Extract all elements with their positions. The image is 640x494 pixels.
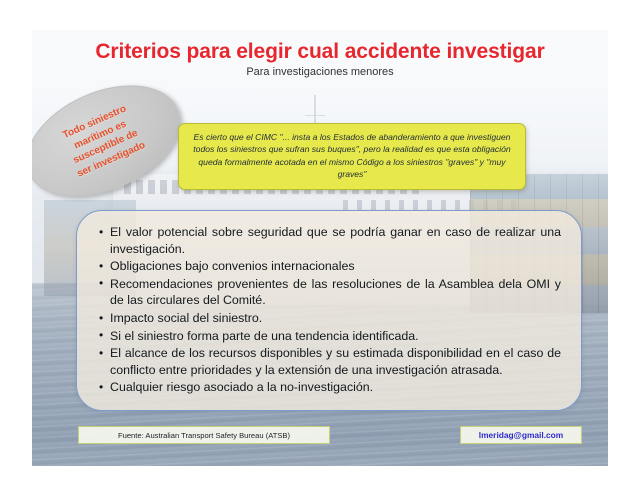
bullet-item: Obligaciones bajo convenios internaciona… <box>99 258 561 275</box>
bullet-list-panel: El valor potencial sobre seguridad que s… <box>76 210 582 411</box>
bullet-item: Si el siniestro forma parte de una tende… <box>99 328 561 345</box>
bullet-item: Cualquier riesgo asociado a la no-invest… <box>99 379 561 396</box>
quote-callout-box: Es cierto que el CIMC "... insta a los E… <box>178 123 526 190</box>
source-text: Fuente: Australian Transport Safety Bure… <box>118 431 290 440</box>
email-box[interactable]: lmeridag@gmail.com <box>460 426 582 444</box>
slide-content: Criterios para elegir cual accidente inv… <box>32 30 608 466</box>
oval-badge-text: Todo siniestro marítimo es susceptible d… <box>51 98 155 184</box>
bullet-item: Impacto social del siniestro. <box>99 310 561 327</box>
quote-callout-text: Es cierto que el CIMC "... insta a los E… <box>189 131 515 181</box>
oval-badge: Todo siniestro marítimo es susceptible d… <box>32 63 197 218</box>
email-link[interactable]: lmeridag@gmail.com <box>479 430 564 440</box>
bullet-item: Recomendaciones provenientes de las reso… <box>99 276 561 309</box>
bullet-item: El valor potencial sobre seguridad que s… <box>99 224 561 257</box>
source-box: Fuente: Australian Transport Safety Bure… <box>78 426 330 444</box>
slide: Criterios para elegir cual accidente inv… <box>32 30 608 466</box>
page-title: Criterios para elegir cual accidente inv… <box>32 40 608 64</box>
page-subtitle: Para investigaciones menores <box>32 66 608 78</box>
bullet-item: El alcance de los recursos disponibles y… <box>99 345 561 378</box>
